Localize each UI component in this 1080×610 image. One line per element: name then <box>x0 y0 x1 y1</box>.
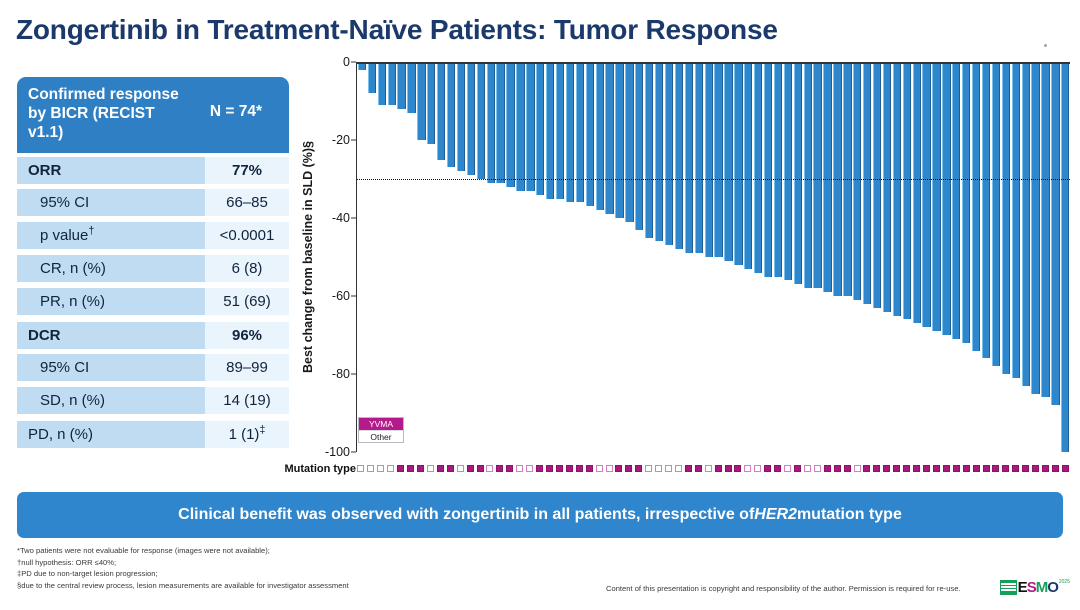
bar-slot <box>823 62 833 452</box>
mutation-marker-yvma <box>873 465 880 472</box>
waterfall-bar <box>596 62 604 210</box>
bar-series <box>357 62 1070 452</box>
y-axis-tick-label: 0 <box>343 55 350 69</box>
mutation-marker-yvma <box>844 465 851 472</box>
mutation-marker-yvma <box>863 465 870 472</box>
table-row-label: PD, n (%) <box>17 419 205 448</box>
banner-text-after: mutation type <box>797 506 902 524</box>
bar-slot <box>793 62 803 452</box>
mutation-marker-yvma <box>943 465 950 472</box>
mutation-slot <box>525 465 535 472</box>
mutation-marker-other <box>804 465 811 472</box>
mutation-slot <box>951 465 961 472</box>
esmo-logo: ESMO 2025 <box>1000 578 1070 596</box>
mutation-slot <box>872 465 882 472</box>
mutation-slot <box>594 465 604 472</box>
mutation-slot <box>882 465 892 472</box>
copyright-text: Content of this presentation is copyrigh… <box>606 584 961 593</box>
waterfall-bar <box>972 62 980 351</box>
footnote-line: †null hypothesis: ORR ≤40%; <box>17 557 637 569</box>
esmo-logo-year: 2025 <box>1059 578 1070 585</box>
mutation-slot <box>822 465 832 472</box>
mutation-marker-yvma <box>576 465 583 472</box>
waterfall-bar <box>932 62 940 331</box>
mutation-marker-yvma <box>1012 465 1019 472</box>
mutation-slot <box>554 465 564 472</box>
waterfall-bar <box>506 62 514 187</box>
bar-slot <box>644 62 654 452</box>
table-row: ORR77% <box>17 153 289 186</box>
mutation-marker-yvma <box>794 465 801 472</box>
waterfall-bar <box>1041 62 1049 397</box>
waterfall-bar <box>962 62 970 343</box>
mutation-slot <box>1011 465 1021 472</box>
bar-slot <box>407 62 417 452</box>
mutation-slot <box>614 465 624 472</box>
mutation-marker-yvma <box>824 465 831 472</box>
mutation-marker-other <box>377 465 384 472</box>
mutation-marker-yvma <box>566 465 573 472</box>
mutation-slot <box>535 465 545 472</box>
mutation-marker-other <box>655 465 662 472</box>
response-table: Confirmed response by BICR (RECIST v1.1)… <box>17 77 289 450</box>
waterfall-bar <box>457 62 465 171</box>
footnote-line: ‡PD due to non-target lesion progression… <box>17 568 637 580</box>
mutation-legend: YVMA Other <box>358 417 404 443</box>
table-row-label: SD, n (%) <box>17 387 205 414</box>
mutation-marker-yvma <box>447 465 454 472</box>
y-axis-label: Best change from baseline in SLD (%)§ <box>298 62 318 452</box>
mutation-slot <box>912 465 922 472</box>
bar-slot <box>684 62 694 452</box>
mutation-marker-other <box>665 465 672 472</box>
mutation-marker-yvma <box>1052 465 1059 472</box>
mutation-slot <box>1051 465 1061 472</box>
mutation-slot <box>1041 465 1051 472</box>
waterfall-bar <box>734 62 742 265</box>
waterfall-bar <box>566 62 574 202</box>
bar-slot <box>456 62 466 452</box>
waterfall-bar <box>903 62 911 319</box>
mutation-slot <box>604 465 614 472</box>
mutation-marker-other <box>486 465 493 472</box>
mutation-slot <box>773 465 783 472</box>
mutation-slot <box>793 465 803 472</box>
table-header-label: Confirmed response by BICR (RECIST v1.1) <box>28 86 194 143</box>
bar-slot <box>1050 62 1060 452</box>
waterfall-bar <box>685 62 693 253</box>
mutation-slot <box>783 465 793 472</box>
bar-slot <box>476 62 486 452</box>
mutation-marker-yvma <box>477 465 484 472</box>
response-threshold-line <box>357 179 1070 180</box>
mutation-marker-yvma <box>725 465 732 472</box>
bar-slot <box>753 62 763 452</box>
table-row: PD, n (%)1 (1)‡ <box>17 417 289 450</box>
table-row: PR, n (%)51 (69) <box>17 285 289 318</box>
bar-slot <box>615 62 625 452</box>
waterfall-bar <box>982 62 990 358</box>
mutation-marker-yvma <box>715 465 722 472</box>
bar-slot <box>377 62 387 452</box>
mutation-marker-other <box>784 465 791 472</box>
bar-slot <box>486 62 496 452</box>
waterfall-bar <box>1031 62 1039 394</box>
bar-slot <box>674 62 684 452</box>
waterfall-bar <box>883 62 891 312</box>
mutation-type-label: Mutation type <box>264 463 356 475</box>
mutation-marker-yvma <box>1022 465 1029 472</box>
mutation-slot <box>892 465 902 472</box>
table-row-value: 89–99 <box>205 354 289 381</box>
y-axis-tick-label: -60 <box>332 289 350 303</box>
mutation-marker-yvma <box>933 465 940 472</box>
footnotes: *Two patients were not evaluable for res… <box>17 545 637 591</box>
waterfall-bar <box>804 62 812 288</box>
table-row-value: 66–85 <box>205 189 289 216</box>
mutation-marker-yvma <box>397 465 404 472</box>
mutation-marker-other <box>744 465 751 472</box>
waterfall-bar <box>942 62 950 335</box>
bar-slot <box>1011 62 1021 452</box>
mutation-slot <box>574 465 584 472</box>
mutation-slot <box>902 465 912 472</box>
waterfall-bar <box>913 62 921 323</box>
table-row-value: 51 (69) <box>205 288 289 315</box>
waterfall-bar <box>714 62 722 257</box>
mutation-slot <box>981 465 991 472</box>
table-row: SD, n (%)14 (19) <box>17 384 289 417</box>
bar-slot <box>932 62 942 452</box>
mutation-slot <box>505 465 515 472</box>
bar-slot <box>446 62 456 452</box>
mutation-marker-yvma <box>685 465 692 472</box>
bar-slot <box>466 62 476 452</box>
bar-slot <box>704 62 714 452</box>
mutation-marker-other <box>814 465 821 472</box>
waterfall-bar <box>853 62 861 300</box>
mutation-slot <box>1001 465 1011 472</box>
table-row-label: p value† <box>17 222 205 249</box>
mutation-marker-yvma <box>774 465 781 472</box>
mutation-slot <box>713 465 723 472</box>
mutation-marker-other <box>526 465 533 472</box>
mutation-marker-yvma <box>586 465 593 472</box>
mutation-slot <box>634 465 644 472</box>
footnote-line: §due to the central review process, lesi… <box>17 580 637 592</box>
waterfall-bar <box>526 62 534 191</box>
mutation-slot <box>812 465 822 472</box>
mutation-slot <box>584 465 594 472</box>
mutation-marker-other <box>357 465 364 472</box>
decorative-dot <box>1044 44 1047 47</box>
waterfall-bar <box>586 62 594 206</box>
bar-slot <box>922 62 932 452</box>
waterfall-bar <box>645 62 653 238</box>
waterfall-bar <box>516 62 524 191</box>
mutation-slot <box>931 465 941 472</box>
table-header-n: N = 74* <box>194 86 278 122</box>
mutation-slot <box>564 465 574 472</box>
waterfall-bar <box>813 62 821 288</box>
mutation-slot <box>435 465 445 472</box>
mutation-slot <box>545 465 555 472</box>
mutation-marker-yvma <box>407 465 414 472</box>
table-row-label: ORR <box>17 155 205 184</box>
waterfall-bar <box>724 62 732 261</box>
waterfall-bar <box>1012 62 1020 378</box>
mutation-slot <box>624 465 634 472</box>
mutation-marker-other <box>854 465 861 472</box>
mutation-marker-other <box>645 465 652 472</box>
mutation-marker-yvma <box>615 465 622 472</box>
esmo-logo-word: ESMO <box>1018 579 1058 596</box>
waterfall-bar <box>388 62 396 105</box>
table-row: 95% CI89–99 <box>17 351 289 384</box>
bar-slot <box>416 62 426 452</box>
y-axis-ticks: 0-20-40-60-80-100 <box>318 62 356 452</box>
mutation-slot <box>683 465 693 472</box>
mutation-marker-other <box>705 465 712 472</box>
bar-slot <box>783 62 793 452</box>
waterfall-bar <box>397 62 405 109</box>
mutation-marker-yvma <box>734 465 741 472</box>
bar-slot <box>833 62 843 452</box>
mutation-marker-yvma <box>764 465 771 472</box>
mutation-marker-yvma <box>1042 465 1049 472</box>
bar-slot <box>941 62 951 452</box>
waterfall-bar <box>873 62 881 308</box>
table-body: ORR77%95% CI66–85p value†<0.0001CR, n (%… <box>17 153 289 450</box>
table-row-label: CR, n (%) <box>17 255 205 282</box>
table-row-value: 6 (8) <box>205 255 289 282</box>
mutation-marker-yvma <box>1032 465 1039 472</box>
waterfall-bar <box>417 62 425 140</box>
bar-slot <box>842 62 852 452</box>
waterfall-bar <box>536 62 544 195</box>
waterfall-bar <box>576 62 584 202</box>
y-axis-tick-label: -20 <box>332 133 350 147</box>
mutation-marker-yvma <box>496 465 503 472</box>
mutation-slot <box>733 465 743 472</box>
bar-slot <box>634 62 644 452</box>
table-row-value: 96% <box>205 320 289 349</box>
mutation-slot <box>703 465 713 472</box>
bar-slot <box>912 62 922 452</box>
bar-slot <box>585 62 595 452</box>
waterfall-bar <box>615 62 623 218</box>
table-row-value: 77% <box>205 155 289 184</box>
bar-slot <box>694 62 704 452</box>
mutation-slot <box>674 465 684 472</box>
table-row-label: DCR <box>17 320 205 349</box>
bar-slot <box>714 62 724 452</box>
y-axis-label-text: Best change from baseline in SLD (%)§ <box>301 141 315 373</box>
mutation-slot <box>644 465 654 472</box>
mutation-marker-yvma <box>467 465 474 472</box>
mutation-slot <box>832 465 842 472</box>
bar-slot <box>496 62 506 452</box>
footnote-line: *Two patients were not evaluable for res… <box>17 545 637 557</box>
bar-slot <box>1060 62 1070 452</box>
mutation-slot <box>416 465 426 472</box>
table-row-value: <0.0001 <box>205 222 289 249</box>
waterfall-bar <box>665 62 673 245</box>
mutation-slot <box>455 465 465 472</box>
legend-item-other: Other <box>359 430 403 442</box>
bar-slot <box>1021 62 1031 452</box>
mutation-marker-yvma <box>536 465 543 472</box>
mutation-marker-yvma <box>556 465 563 472</box>
mutation-marker-other <box>754 465 761 472</box>
waterfall-bar <box>378 62 386 105</box>
mutation-slot <box>445 465 455 472</box>
mutation-slot <box>396 465 406 472</box>
mutation-slot <box>664 465 674 472</box>
table-row: 95% CI66–85 <box>17 186 289 219</box>
mutation-marker-yvma <box>546 465 553 472</box>
mutation-slot <box>802 465 812 472</box>
waterfall-bar <box>487 62 495 183</box>
waterfall-bar <box>992 62 1000 366</box>
bar-slot <box>575 62 585 452</box>
bar-slot <box>565 62 575 452</box>
waterfall-bar <box>368 62 376 93</box>
zero-baseline <box>357 62 1070 64</box>
mutation-slot <box>515 465 525 472</box>
waterfall-bar <box>1002 62 1010 374</box>
esmo-logo-mark <box>1000 580 1017 595</box>
mutation-marker-yvma <box>963 465 970 472</box>
mutation-slot <box>991 465 1001 472</box>
waterfall-bar <box>764 62 772 277</box>
waterfall-bar <box>695 62 703 253</box>
mutation-type-strip: Mutation type <box>300 461 1070 479</box>
bar-slot <box>971 62 981 452</box>
conclusion-banner: Clinical benefit was observed with zonge… <box>17 492 1063 538</box>
waterfall-bar <box>784 62 792 280</box>
bar-slot <box>981 62 991 452</box>
waterfall-bar <box>635 62 643 230</box>
bar-slot <box>803 62 813 452</box>
waterfall-bar <box>1022 62 1030 386</box>
bar-slot <box>991 62 1001 452</box>
bar-slot <box>724 62 734 452</box>
y-axis-tick-label: -40 <box>332 211 350 225</box>
bar-slot <box>595 62 605 452</box>
bar-slot <box>387 62 397 452</box>
bar-slot <box>961 62 971 452</box>
page-title: Zongertinib in Treatment-Naïve Patients:… <box>16 14 1066 46</box>
bar-slot <box>654 62 664 452</box>
waterfall-bar <box>605 62 613 214</box>
mutation-slot <box>465 465 475 472</box>
mutation-slot <box>693 465 703 472</box>
bar-slot <box>862 62 872 452</box>
mutation-slot <box>495 465 505 472</box>
mutation-marker-yvma <box>903 465 910 472</box>
mutation-slot <box>1031 465 1041 472</box>
bar-slot <box>882 62 892 452</box>
mutation-slot <box>723 465 733 472</box>
mutation-slot <box>971 465 981 472</box>
mutation-slot <box>366 465 376 472</box>
waterfall-bar <box>675 62 683 249</box>
legend-item-yvma: YVMA <box>359 418 403 430</box>
table-row: DCR96% <box>17 318 289 351</box>
bar-slot <box>436 62 446 452</box>
bar-slot <box>892 62 902 452</box>
mutation-slot <box>852 465 862 472</box>
mutation-marker-other <box>427 465 434 472</box>
mutation-marker-yvma <box>1002 465 1009 472</box>
waterfall-bar <box>1061 62 1069 452</box>
mutation-marker-yvma <box>893 465 900 472</box>
waterfall-bar <box>922 62 930 327</box>
waterfall-bar <box>823 62 831 292</box>
table-row-value: 1 (1)‡ <box>205 419 289 448</box>
bar-slot <box>872 62 882 452</box>
mutation-slot <box>356 465 366 472</box>
waterfall-bar <box>625 62 633 222</box>
bar-slot <box>852 62 862 452</box>
waterfall-bar <box>754 62 762 273</box>
bar-slot <box>525 62 535 452</box>
waterfall-chart: Best change from baseline in SLD (%)§ 0-… <box>300 62 1070 462</box>
mutation-marker-other <box>675 465 682 472</box>
bar-slot <box>951 62 961 452</box>
mutation-marker-yvma <box>417 465 424 472</box>
bar-slot <box>357 62 367 452</box>
waterfall-bar <box>744 62 752 269</box>
mutation-slot <box>485 465 495 472</box>
bar-slot <box>397 62 407 452</box>
waterfall-bar <box>655 62 663 241</box>
mutation-marker-yvma <box>953 465 960 472</box>
bar-slot <box>743 62 753 452</box>
y-axis-tick-label: -100 <box>325 445 350 459</box>
mutation-marker-other <box>516 465 523 472</box>
waterfall-bar <box>952 62 960 339</box>
mutation-marker-yvma <box>834 465 841 472</box>
waterfall-bar <box>863 62 871 304</box>
table-row: p value†<0.0001 <box>17 219 289 252</box>
mutation-marker-yvma <box>992 465 999 472</box>
mutation-marker-other <box>457 465 464 472</box>
bar-slot <box>605 62 615 452</box>
mutation-marker-yvma <box>437 465 444 472</box>
mutation-marker-other <box>387 465 394 472</box>
waterfall-bar <box>437 62 445 160</box>
bar-slot <box>426 62 436 452</box>
table-header: Confirmed response by BICR (RECIST v1.1)… <box>17 77 289 153</box>
bar-slot <box>535 62 545 452</box>
waterfall-bar <box>774 62 782 277</box>
bar-slot <box>624 62 634 452</box>
mutation-slot <box>743 465 753 472</box>
mutation-marker-yvma <box>625 465 632 472</box>
waterfall-bar <box>496 62 504 183</box>
bar-slot <box>367 62 377 452</box>
waterfall-bar <box>477 62 485 179</box>
mutation-slot <box>425 465 435 472</box>
bar-slot <box>902 62 912 452</box>
mutation-slot <box>1060 465 1070 472</box>
slide-root: Zongertinib in Treatment-Naïve Patients:… <box>0 0 1080 610</box>
mutation-slot <box>475 465 485 472</box>
bar-slot <box>813 62 823 452</box>
waterfall-bar <box>427 62 435 144</box>
